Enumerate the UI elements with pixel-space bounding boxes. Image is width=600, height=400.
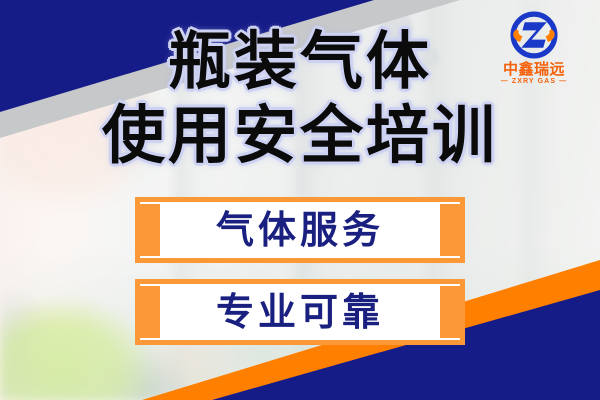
slogan-badge-1-inner: 气体服务 <box>140 204 460 256</box>
slogan-badge-2-inner: 专业可靠 <box>140 286 460 338</box>
brand-logo: 中鑫瑞远 — ZXRY GAS — <box>482 6 586 84</box>
slogan-badge-2: 专业可靠 <box>135 279 465 345</box>
slogan-badge-group: 气体服务 专业可靠 <box>135 197 465 345</box>
slogan-badge-2-text: 专业可靠 <box>216 293 384 331</box>
slogan-badge-1: 气体服务 <box>135 197 465 263</box>
poster-canvas: 中鑫瑞远 — ZXRY GAS — 瓶装气体 使用安全培训 气体服务 专业可靠 <box>0 0 600 400</box>
slogan-badge-1-text: 气体服务 <box>216 211 384 249</box>
logo-company-name-cn: 中鑫瑞远 <box>482 62 586 77</box>
logo-company-name-en: — ZXRY GAS — <box>482 77 586 87</box>
zxry-gas-z-monogram-icon <box>505 6 563 64</box>
